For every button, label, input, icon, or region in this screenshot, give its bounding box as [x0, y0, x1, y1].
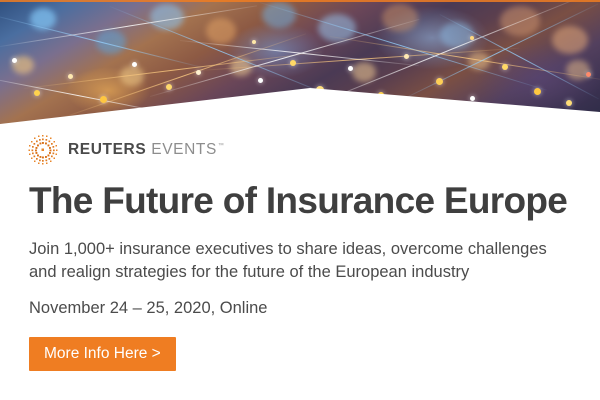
hero-image [0, 0, 600, 126]
brand-lockup: REUTERS EVENTS ™ [27, 134, 600, 166]
trademark-symbol: ™ [218, 143, 224, 149]
hero-chevron-mask [0, 0, 600, 126]
brand-wordmark: REUTERS EVENTS ™ [68, 141, 224, 159]
reuters-dot-circle-logo-icon [27, 134, 59, 166]
hero-accent-rule [0, 0, 600, 2]
brand-name-events: EVENTS [151, 141, 217, 159]
subheadline-text: Join 1,000+ insurance executives to shar… [29, 238, 574, 285]
more-info-button[interactable]: More Info Here > [29, 337, 176, 371]
banner-content: REUTERS EVENTS ™ The Future of Insurance… [0, 126, 600, 371]
page-title: The Future of Insurance Europe [29, 182, 600, 221]
event-date-location: November 24 – 25, 2020, Online [29, 299, 600, 318]
promotional-banner-ad[interactable]: REUTERS EVENTS ™ The Future of Insurance… [0, 0, 600, 400]
brand-name-reuters: REUTERS [68, 141, 146, 159]
